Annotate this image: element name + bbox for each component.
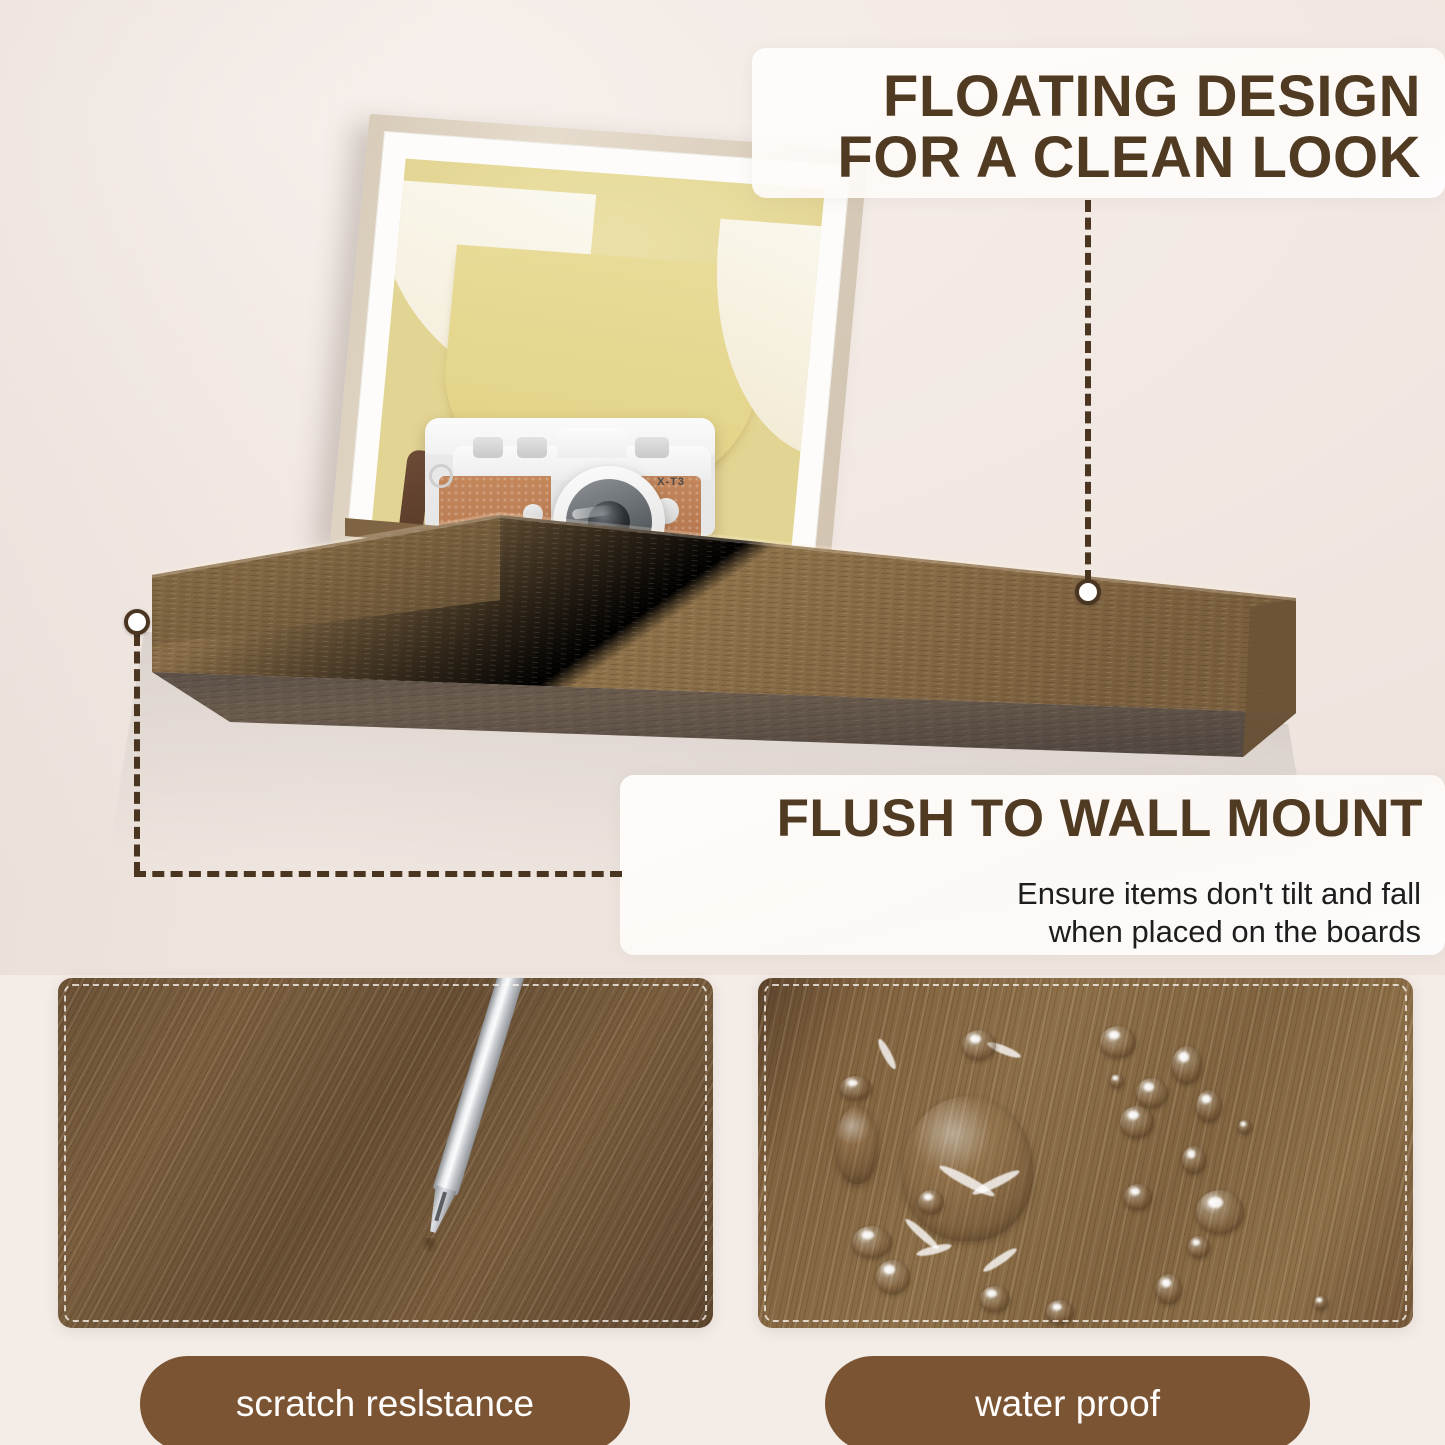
screwdriver-icon (409, 978, 541, 1245)
water-droplet (1100, 1026, 1136, 1058)
callout-headline-floating-design: FLOATING DESIGN FOR A CLEAN LOOK (837, 66, 1421, 189)
water-droplet (1238, 1120, 1252, 1134)
water-droplet (1188, 1236, 1210, 1258)
water-droplet (1196, 1190, 1244, 1234)
water-streak-upper (875, 1037, 898, 1071)
leader-line-left-horizontal (134, 871, 622, 877)
marker-dot-shelf-left (124, 609, 150, 635)
water-droplet (962, 1030, 996, 1060)
leader-line-left-vertical (134, 634, 140, 874)
callout-subtext-flush-mount: Ensure items don't tilt and fall when pl… (1017, 875, 1421, 951)
leader-line-top (1085, 200, 1091, 582)
marker-dot-shelf-top (1075, 579, 1101, 605)
water-droplet (852, 1226, 892, 1258)
water-droplet (876, 1260, 910, 1294)
water-droplet (840, 1076, 872, 1100)
scratch-mark (422, 1238, 438, 1254)
water-streak-bottom (981, 1246, 1019, 1275)
water-droplet (1120, 1106, 1154, 1138)
feature-label-waterproof: water proof (825, 1356, 1310, 1445)
water-droplet (918, 1190, 944, 1214)
feature-panel-waterproof (758, 978, 1413, 1328)
headline-line-2: FOR A CLEAN LOOK (837, 127, 1421, 188)
water-droplet-large (903, 1096, 1033, 1241)
water-droplet (1182, 1146, 1206, 1174)
water-droplet (1196, 1090, 1222, 1122)
callout-card-floating-design: FLOATING DESIGN FOR A CLEAN LOOK (752, 48, 1445, 198)
callout-card-flush-mount: FLUSH TO WALL MOUNT Ensure items don't t… (620, 775, 1445, 955)
screwdriver-shaft (433, 978, 532, 1196)
water-droplet (980, 1286, 1010, 1312)
water-droplet (1172, 1046, 1202, 1084)
feature-label-scratch: scratch reslstance (140, 1356, 630, 1445)
water-droplet (1110, 1074, 1124, 1088)
scratch-wood-surface (58, 978, 713, 1328)
product-infographic: X-T3 (0, 0, 1445, 1445)
feature-panel-scratch (58, 978, 713, 1328)
callout-headline-flush-mount: FLUSH TO WALL MOUNT (777, 791, 1423, 847)
subtext-line-2: when placed on the boards (1017, 913, 1421, 951)
headline-line-1: FLOATING DESIGN (837, 66, 1421, 127)
water-droplet-medium (836, 1106, 878, 1184)
water-droplet (1314, 1296, 1328, 1310)
water-droplet (1046, 1300, 1074, 1324)
water-droplet (1136, 1078, 1168, 1108)
waterproof-wood-surface (758, 978, 1413, 1328)
subtext-line-1: Ensure items don't tilt and fall (1017, 875, 1421, 913)
water-droplet (1156, 1274, 1182, 1304)
water-droplet (1124, 1184, 1152, 1210)
